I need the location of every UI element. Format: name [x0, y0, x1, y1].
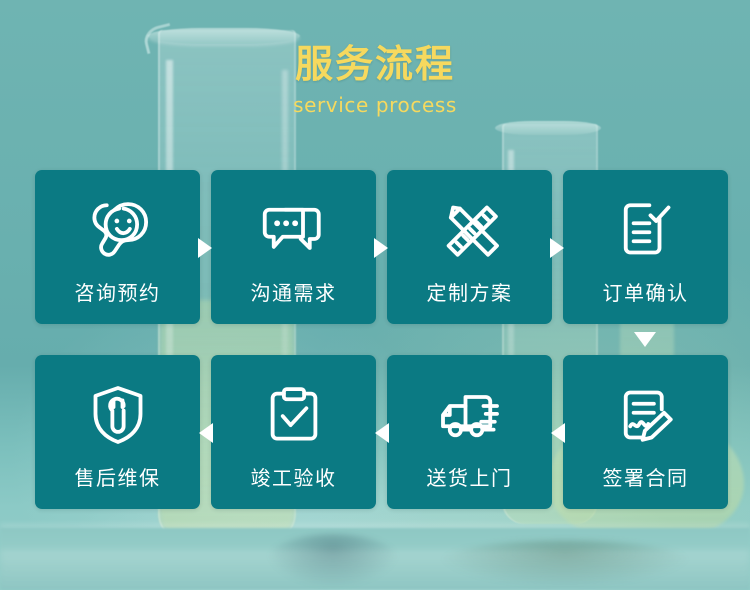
step-card-8[interactable]: 售后维保 — [35, 355, 200, 509]
process-flow-grid: 咨询预约 沟通需求 定制方案 — [0, 0, 750, 590]
step-card-label: 竣工验收 — [251, 465, 337, 491]
flow-arrow-right-2 — [374, 238, 388, 258]
step-card-label: 沟通需求 — [251, 280, 337, 306]
step-card-label: 订单确认 — [603, 280, 689, 306]
step-card-label: 咨询预约 — [75, 280, 161, 306]
step-card-label: 送货上门 — [427, 465, 513, 491]
step-card-7[interactable]: 竣工验收 — [211, 355, 376, 509]
pencil-ruler-icon — [432, 192, 508, 268]
flow-arrow-left-3 — [199, 423, 213, 443]
flow-arrow-right-1 — [198, 238, 212, 258]
document-check-icon — [608, 192, 684, 268]
clipboard-check-icon — [256, 377, 332, 453]
chat-bubbles-icon — [256, 192, 332, 268]
step-card-label: 定制方案 — [427, 280, 513, 306]
step-card-label: 售后维保 — [75, 465, 161, 491]
phone-smiley-icon — [80, 192, 156, 268]
step-card-label: 签署合同 — [603, 465, 689, 491]
flow-arrow-right-3 — [550, 238, 564, 258]
step-card-1[interactable]: 咨询预约 — [35, 170, 200, 324]
step-card-3[interactable]: 定制方案 — [387, 170, 552, 324]
delivery-truck-icon — [432, 377, 508, 453]
step-card-4[interactable]: 订单确认 — [563, 170, 728, 324]
flow-arrow-left-1 — [551, 423, 565, 443]
step-card-2[interactable]: 沟通需求 — [211, 170, 376, 324]
step-card-5[interactable]: 签署合同 — [563, 355, 728, 509]
shield-wrench-icon — [80, 377, 156, 453]
contract-pen-icon — [608, 377, 684, 453]
flow-arrow-left-2 — [375, 423, 389, 443]
flow-arrow-down — [634, 332, 656, 347]
step-card-6[interactable]: 送货上门 — [387, 355, 552, 509]
